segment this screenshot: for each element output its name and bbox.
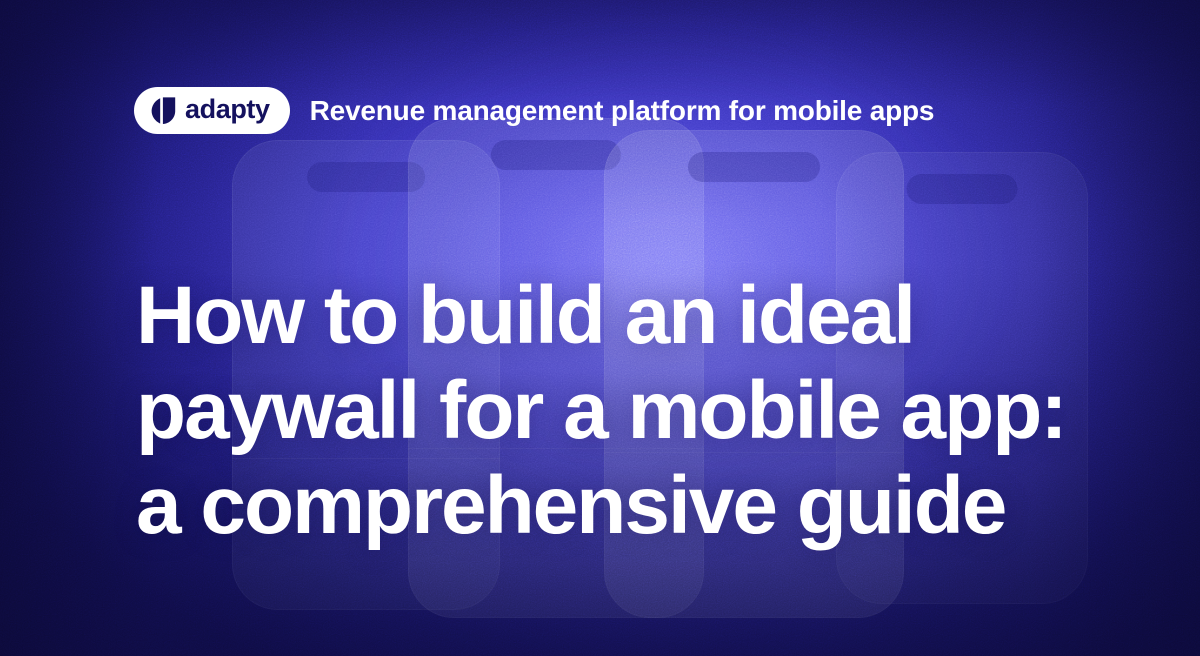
adapty-leaf-icon	[151, 97, 176, 124]
hero-banner: adapty Revenue management platform for m…	[0, 0, 1200, 656]
adapty-wordmark: adapty	[185, 96, 270, 123]
banner-tagline: Revenue management platform for mobile a…	[310, 97, 935, 125]
headline-line-1: How to build an ideal	[136, 268, 1066, 363]
headline-line-3: a comprehensive guide	[136, 458, 1066, 553]
banner-content: adapty Revenue management platform for m…	[0, 0, 1200, 656]
banner-header: adapty Revenue management platform for m…	[134, 87, 934, 134]
headline-line-2: paywall for a mobile app:	[136, 363, 1066, 458]
page-title: How to build an ideal paywall for a mobi…	[136, 268, 1066, 553]
adapty-logo[interactable]: adapty	[134, 87, 290, 134]
